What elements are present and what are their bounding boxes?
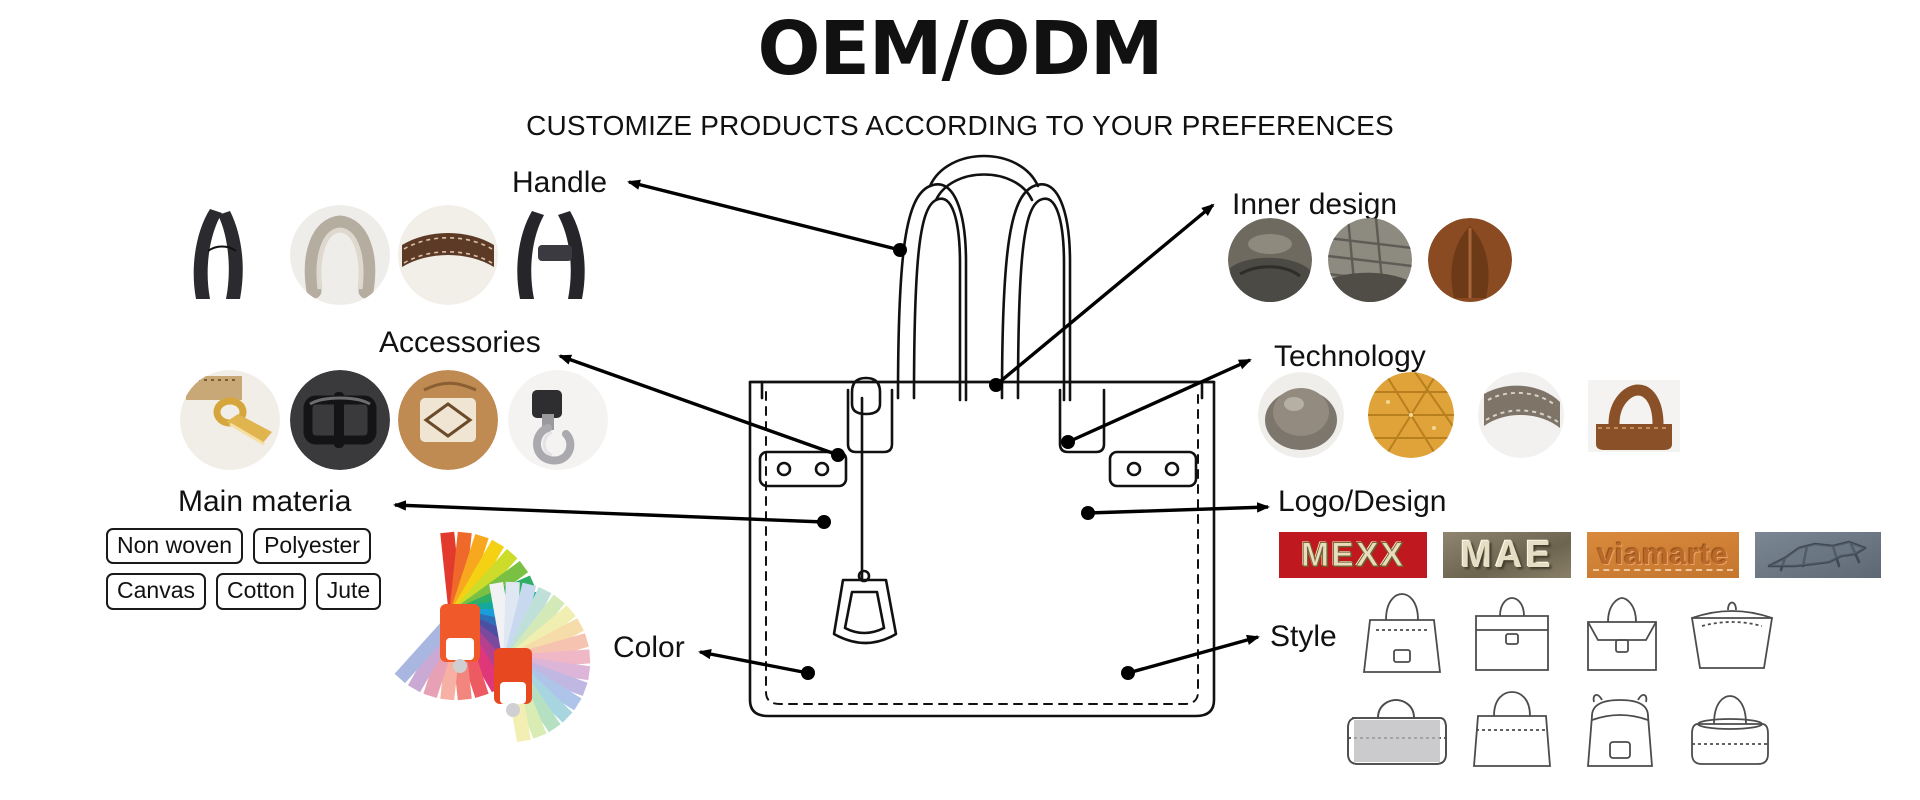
callout-label-style: Style (1270, 622, 1337, 652)
material-tag-cotton[interactable]: Cotton (216, 573, 306, 609)
handle-sample-black-leather-handle (180, 205, 276, 303)
accessory-sample-brown-metal-plaque (398, 370, 498, 470)
material-tag-non-woven[interactable]: Non woven (106, 528, 243, 564)
infographic-canvas: OEM/ODM CUSTOMIZE PRODUCTS ACCORDING TO … (0, 0, 1920, 800)
logo-plate-mae-text: MAE (1460, 534, 1553, 577)
material-tag-canvas[interactable]: Canvas (106, 573, 206, 609)
arrow-technology (1068, 360, 1250, 442)
technology-sample-quilted-diamond-stitch (1368, 372, 1454, 458)
accessory-sample-gold-zipper-pull (180, 370, 280, 470)
arrow-inner-design (996, 205, 1213, 385)
logo-plate-mae: MAE (1443, 532, 1571, 578)
callout-label-handle: Handle (512, 168, 607, 198)
style-sample-barrel-bag (1680, 690, 1780, 772)
style-sample-shopper-bag (1462, 690, 1562, 772)
style-sample-tote-bag (1352, 590, 1452, 676)
logo-plate-mexx: MEXX (1279, 532, 1427, 578)
color-swatch-fan (360, 520, 620, 770)
callout-label-inner-design: Inner design (1232, 190, 1397, 220)
arrow-style (1128, 637, 1258, 673)
inner-design-sample-brown-suede-interior (1428, 218, 1512, 302)
style-sample-backpack (1572, 690, 1668, 772)
arrow-logo-design (1088, 507, 1268, 513)
material-tag-polyester[interactable]: Polyester (253, 528, 371, 564)
logo-plate-viamarte-text: viamarte (1597, 538, 1728, 572)
style-sample-frame-clutch (1682, 592, 1782, 676)
technology-sample-grey-rivet-stud (1258, 372, 1344, 458)
logo-plate-mexx-text: MEXX (1301, 536, 1405, 575)
arrow-handle (629, 182, 900, 250)
accessory-sample-silver-swivel-clasp (508, 370, 608, 470)
main-material-tag-list: Non woven Polyester Canvas Cotton Jute (106, 528, 386, 610)
handle-sample-taupe-rolled-handle (290, 205, 390, 305)
leaping-horse-icon (1755, 532, 1881, 578)
callout-label-technology: Technology (1274, 342, 1426, 372)
viamarte-stitch-line (1593, 569, 1733, 571)
accessory-sample-black-buckle (290, 370, 390, 470)
technology-sample-edge-painted-seam (1478, 372, 1564, 458)
logo-plate-horse-emblem (1755, 532, 1881, 578)
connector-dots (801, 243, 1135, 680)
technology-sample-rolled-leather-handle-joint (1588, 380, 1680, 452)
handle-sample-black-twin-handle (508, 205, 606, 303)
style-sample-duffel-bag (1342, 690, 1450, 772)
handle-sample-brown-stitched-strap (398, 205, 498, 305)
style-sample-doctor-bag (1462, 590, 1562, 676)
callout-label-main-materia: Main materia (178, 487, 351, 517)
style-sample-satchel-bag (1572, 590, 1672, 676)
logo-plate-viamarte: viamarte (1587, 532, 1739, 578)
inner-design-sample-printed-lining (1328, 218, 1412, 302)
callout-label-logo-design: Logo/Design (1278, 487, 1446, 517)
inner-design-sample-grey-lining-pocket (1228, 218, 1312, 302)
callout-label-accessories: Accessories (379, 328, 541, 358)
arrow-color (700, 652, 808, 673)
handbag-drawing (750, 156, 1214, 716)
callout-label-color: Color (613, 633, 685, 663)
